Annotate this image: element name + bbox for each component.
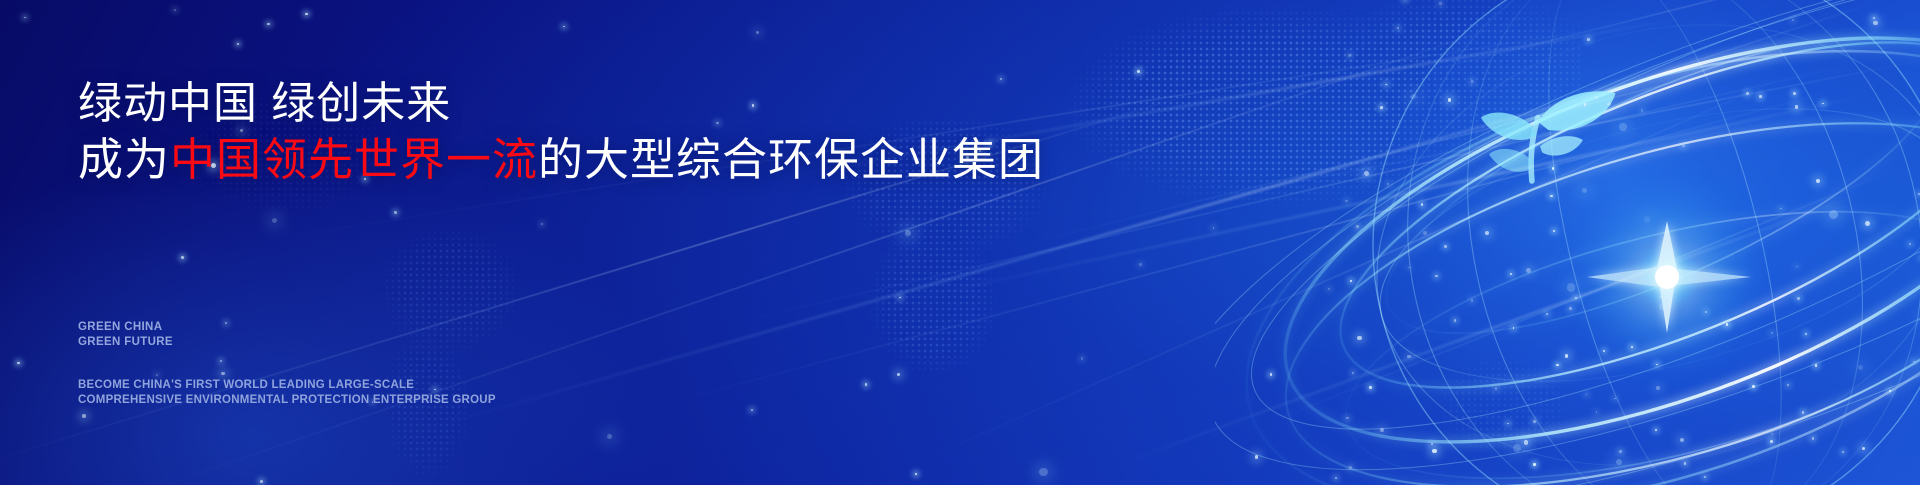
map-region-south-america	[330, 230, 560, 480]
headline-block: 绿动中国 绿创未来 成为中国领先世界一流的大型综合环保企业集团	[78, 76, 1078, 188]
headline-highlight: 中国领先世界一流	[170, 134, 538, 185]
light-burst-icon	[1571, 181, 1763, 373]
tagline-en-line-1: BECOME CHINA'S FIRST WORLD LEADING LARGE…	[78, 378, 496, 393]
map-region-australia	[1400, 330, 1610, 480]
headline-prefix: 成为	[78, 134, 170, 185]
map-region-eurasia	[1060, 0, 1580, 210]
subtitle-en-line-1: GREEN CHINA	[78, 320, 173, 335]
hero-banner: 绿动中国 绿创未来 成为中国领先世界一流的大型综合环保企业集团 GREEN CH…	[0, 0, 1920, 485]
halftone-world-map-icon	[0, 0, 1920, 485]
headline-line-1: 绿动中国 绿创未来	[78, 76, 1078, 132]
subtitle-en-block: GREEN CHINA GREEN FUTURE	[78, 320, 173, 349]
tagline-en-block: BECOME CHINA'S FIRST WORLD LEADING LARGE…	[78, 378, 496, 407]
particle-field	[0, 0, 1920, 485]
sprout-leaf-icon	[1481, 91, 1616, 181]
headline-line-2: 成为中国领先世界一流的大型综合环保企业集团	[78, 132, 1078, 188]
wireframe-globe-icon	[1215, 0, 1920, 485]
light-streaks	[0, 0, 1920, 485]
subtitle-en-line-2: GREEN FUTURE	[78, 335, 173, 350]
tagline-en-line-2: COMPREHENSIVE ENVIRONMENTAL PROTECTION E…	[78, 393, 496, 408]
headline-suffix: 的大型综合环保企业集团	[538, 134, 1044, 185]
